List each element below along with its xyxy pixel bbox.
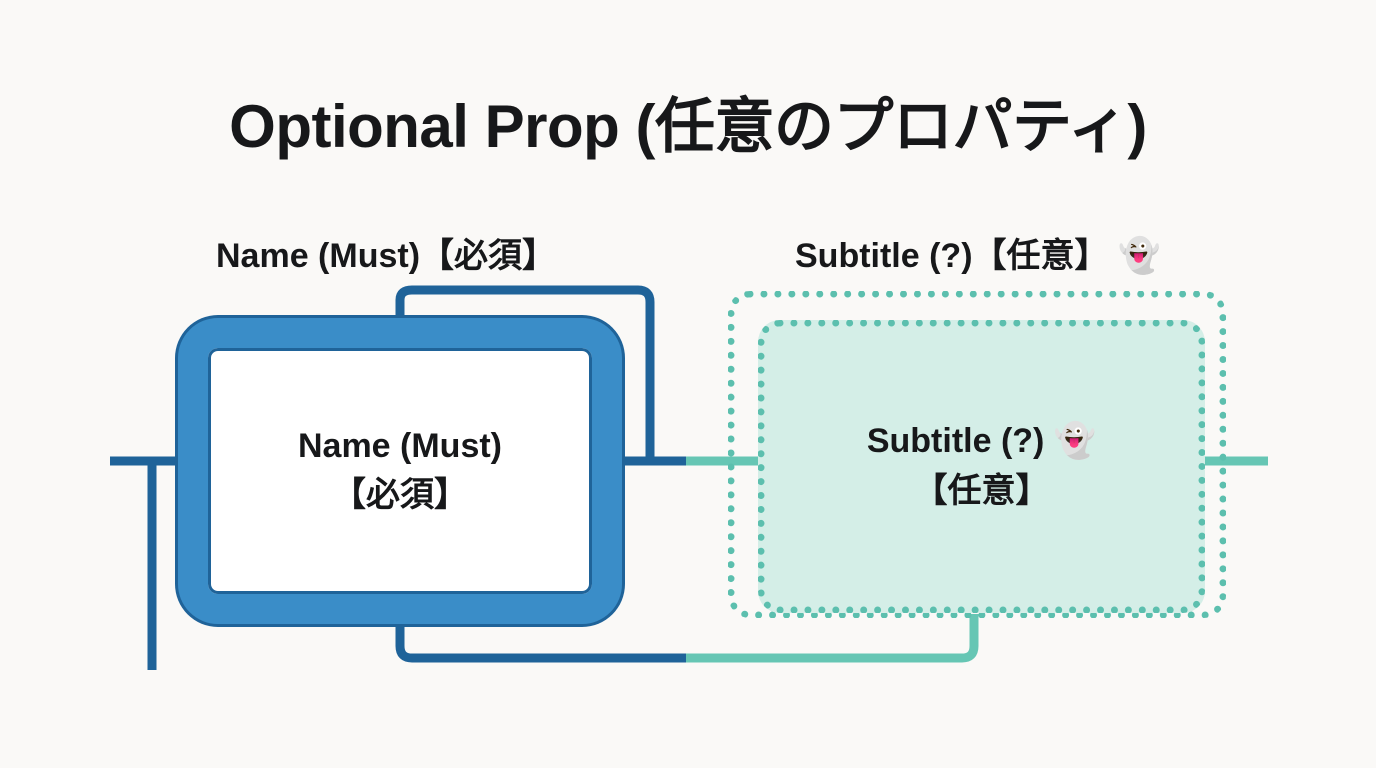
node-optional-text: Subtitle (?) 👻 【任意】 — [867, 417, 1096, 516]
node-optional[interactable]: Subtitle (?) 👻 【任意】 — [758, 320, 1205, 613]
diagram-canvas: Optional Prop (任意のプロパティ) Name (Must)【必須】… — [0, 0, 1376, 768]
node-required-line1: Name (Must) — [298, 422, 502, 471]
node-optional-line2: 【任意】 — [867, 467, 1096, 516]
connector-bottom-optional — [686, 614, 974, 658]
node-optional-line1: Subtitle (?) 👻 — [867, 417, 1096, 466]
node-required-text: Name (Must) 【必須】 — [298, 422, 502, 521]
connector-bottom-required — [400, 624, 690, 658]
node-required[interactable]: Name (Must) 【必須】 — [178, 318, 622, 624]
node-required-line2: 【必須】 — [298, 471, 502, 520]
